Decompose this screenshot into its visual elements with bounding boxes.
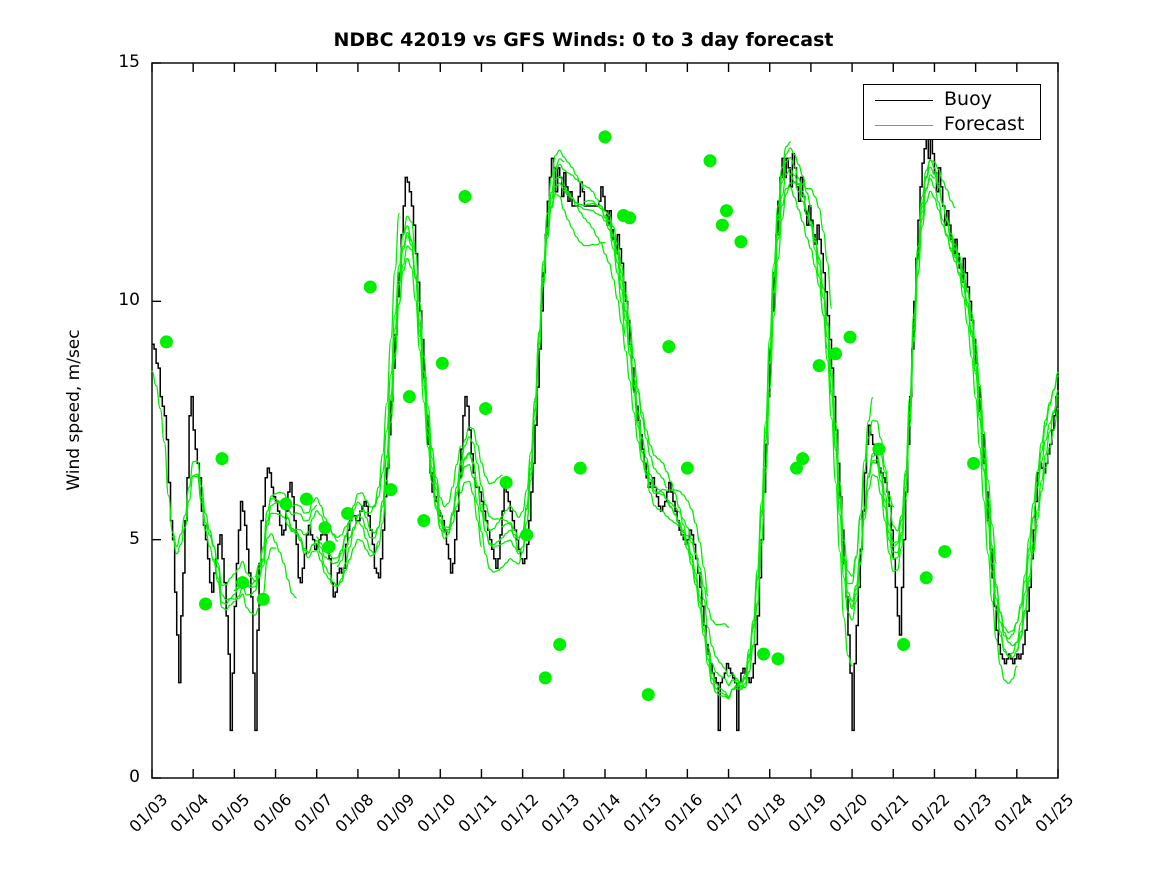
forecast-marker-point xyxy=(216,452,229,465)
forecast-marker-point xyxy=(662,340,675,353)
forecast-marker-point xyxy=(458,190,471,203)
legend-swatch-buoy xyxy=(875,100,933,101)
forecast-marker-point xyxy=(938,545,951,558)
forecast-marker-point xyxy=(734,235,747,248)
forecast-marker-point xyxy=(364,281,377,294)
forecast-marker-point xyxy=(479,402,492,415)
forecast-marker-point xyxy=(403,390,416,403)
forecast-marker-point xyxy=(553,638,566,651)
legend-swatch-forecast xyxy=(875,125,933,126)
forecast-marker-point xyxy=(704,154,717,167)
forecast-marker-point xyxy=(257,593,270,606)
forecast-marker-point xyxy=(642,688,655,701)
forecast-marker-point xyxy=(897,638,910,651)
forecast-marker-point xyxy=(279,497,292,510)
forecast-marker-point xyxy=(720,204,733,217)
legend-label-buoy: Buoy xyxy=(944,88,992,110)
forecast-marker-point xyxy=(199,598,212,611)
forecast-marker-point xyxy=(813,359,826,372)
y-tick-label: 15 xyxy=(100,52,140,72)
legend-item-forecast: Forecast xyxy=(864,113,1042,139)
y-tick-label: 0 xyxy=(100,767,140,787)
chart-canvas: NDBC 42019 vs GFS Winds: 0 to 3 day fore… xyxy=(0,0,1167,875)
forecast-marker-point xyxy=(872,443,885,456)
y-tick-label: 5 xyxy=(100,529,140,549)
forecast-marker-point xyxy=(757,648,770,661)
forecast-marker-point xyxy=(599,130,612,143)
forecast-marker-point xyxy=(384,483,397,496)
forecast-series-lines xyxy=(152,142,1058,698)
forecast-marker-point xyxy=(623,211,636,224)
forecast-marker-point xyxy=(829,347,842,360)
forecast-marker-point xyxy=(539,671,552,684)
forecast-marker-point xyxy=(318,521,331,534)
forecast-marker-point xyxy=(500,476,513,489)
forecast-marker-point xyxy=(436,357,449,370)
legend-label-forecast: Forecast xyxy=(944,113,1024,135)
forecast-marker-point xyxy=(796,452,809,465)
y-tick-label: 10 xyxy=(100,290,140,310)
forecast-marker-point xyxy=(844,331,857,344)
forecast-marker-point xyxy=(300,493,313,506)
forecast-marker-point xyxy=(771,652,784,665)
forecast-marker-point xyxy=(236,576,249,589)
forecast-marker-point xyxy=(323,540,336,553)
forecast-marker-point xyxy=(520,528,533,541)
buoy-series-line xyxy=(152,139,1058,730)
forecast-marker-points xyxy=(160,130,980,701)
forecast-marker-point xyxy=(681,462,694,475)
forecast-marker-point xyxy=(341,507,354,520)
forecast-marker-point xyxy=(967,457,980,470)
forecast-marker-point xyxy=(716,219,729,232)
forecast-marker-point xyxy=(574,462,587,475)
y-axis-ticks xyxy=(152,63,161,778)
forecast-marker-point xyxy=(160,335,173,348)
forecast-marker-point xyxy=(920,571,933,584)
forecast-marker-point xyxy=(417,514,430,527)
legend-item-buoy: Buoy xyxy=(864,88,1042,114)
legend: Buoy Forecast xyxy=(863,84,1041,140)
